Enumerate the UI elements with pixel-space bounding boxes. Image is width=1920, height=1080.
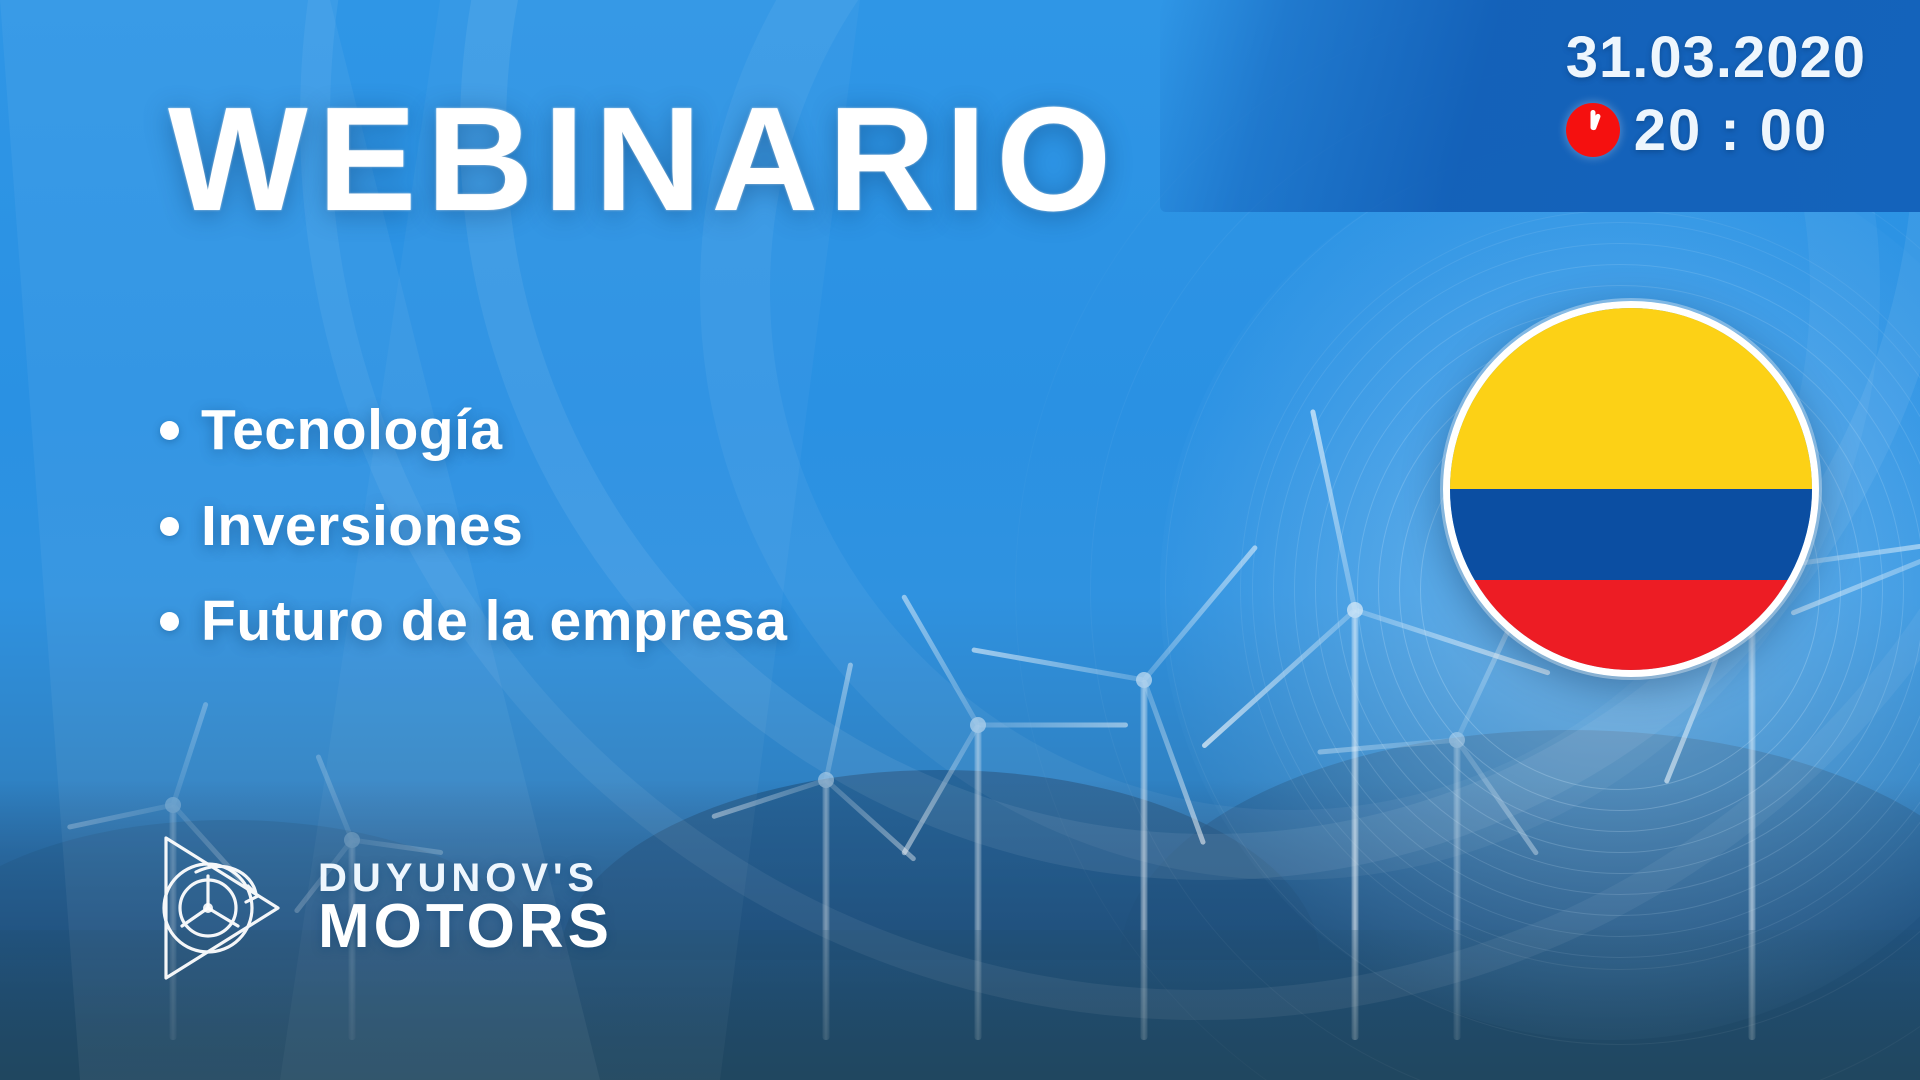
turbine-blade [171,702,209,806]
turbine-blade [971,647,1144,682]
turbine-blade [1317,738,1457,755]
schedule-panel: 31.03.2020 20 : 00 [1160,0,1920,212]
brand-logo: DUYUNOV'S MOTORS [152,828,613,988]
topic-label: Tecnología [201,398,503,464]
webinar-time-row: 20 : 00 [1566,97,1829,164]
logo-line-2: MOTORS [318,897,613,957]
topic-label: Inversiones [201,494,523,560]
list-item: Futuro de la empresa [160,589,788,655]
webinar-time: 20 : 00 [1634,97,1829,164]
page-title: WEBINARIO [168,86,1121,234]
bullet-dot-icon [160,421,179,440]
bullet-dot-icon [160,612,179,631]
flag-band-blue [1450,489,1812,580]
webinar-banner: 31.03.2020 20 : 00 WEBINARIO Tecnología … [0,0,1920,1080]
turbine-blade [711,778,827,820]
list-item: Tecnología [160,398,788,464]
turbine-blade [1310,409,1358,611]
topic-list: Tecnología Inversiones Futuro de la empr… [160,398,788,685]
topic-label: Futuro de la empresa [201,589,788,655]
bullet-dot-icon [160,517,179,536]
turbine-blade [67,803,174,830]
list-item: Inversiones [160,494,788,560]
colombia-flag-icon [1443,301,1819,677]
clock-icon [1566,103,1620,157]
duyunov-motors-logo-mark-icon [152,828,290,988]
webinar-date: 31.03.2020 [1566,28,1866,89]
